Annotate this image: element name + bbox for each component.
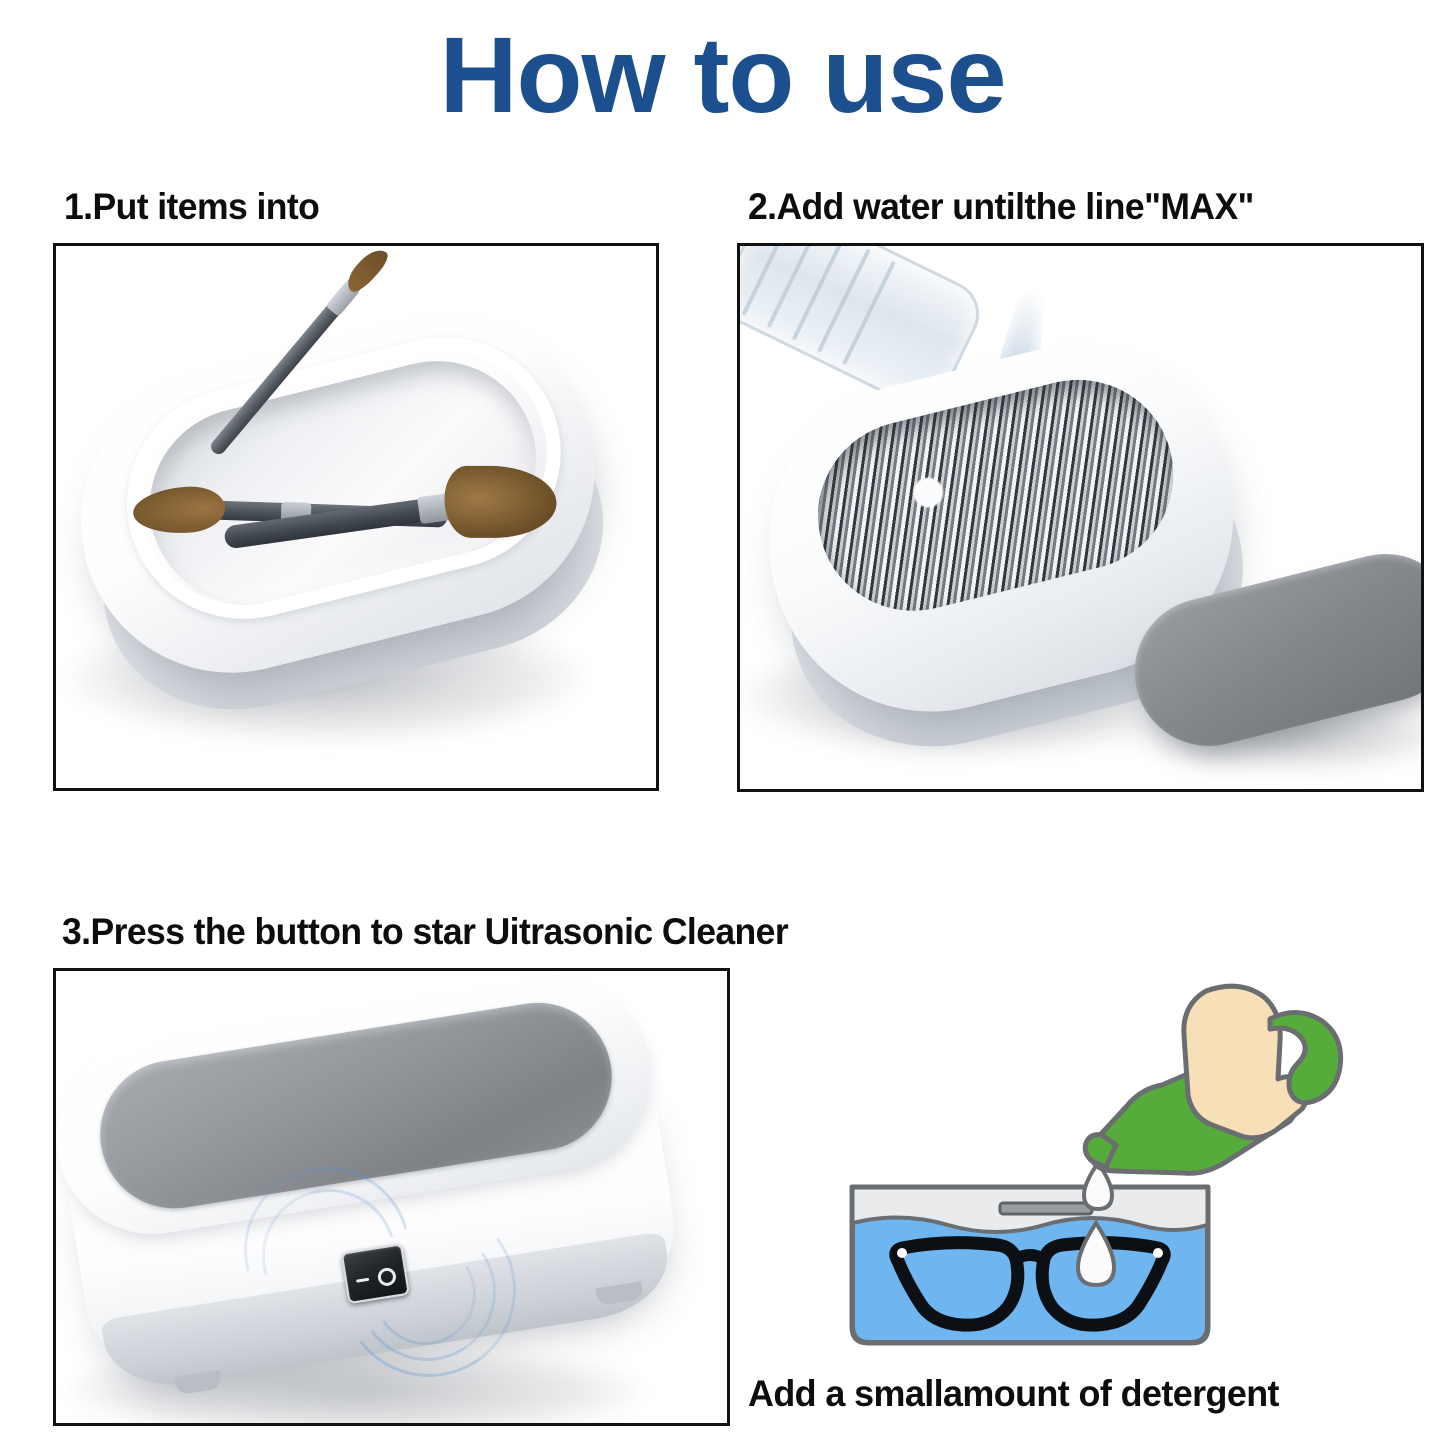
step-3-heading: 3.Press the button to star Uitrasonic Cl… [62, 911, 788, 953]
power-switch-body[interactable] [341, 1243, 410, 1304]
step-2-scene [740, 246, 1421, 789]
step-1-scene [56, 246, 656, 788]
power-switch[interactable] [341, 1244, 406, 1300]
glass-rib [842, 261, 896, 365]
step-2-image-panel [737, 243, 1424, 792]
page-title: How to use [0, 18, 1445, 131]
glass-rib [817, 248, 871, 352]
step-2-heading: 2.Add water untilthe line"MAX" [748, 186, 1254, 228]
glass-rib [767, 243, 821, 328]
power-on-symbol-icon [377, 1267, 398, 1288]
step-1-image-panel [53, 243, 659, 791]
infographic-sheet: How to use 1.Put items into [0, 0, 1445, 1445]
step-3-scene [56, 971, 727, 1423]
hand [1184, 986, 1341, 1138]
step-1-heading: 1.Put items into [64, 186, 319, 228]
max-line [1000, 1203, 1092, 1214]
detergent-illustration [840, 975, 1400, 1365]
power-off-symbol-icon [356, 1278, 369, 1283]
step-3-image-panel [53, 968, 730, 1426]
detergent-caption: Add a smallamount of detergent [748, 1373, 1279, 1415]
glass-rib [742, 243, 796, 316]
brush-bristles [341, 244, 392, 296]
